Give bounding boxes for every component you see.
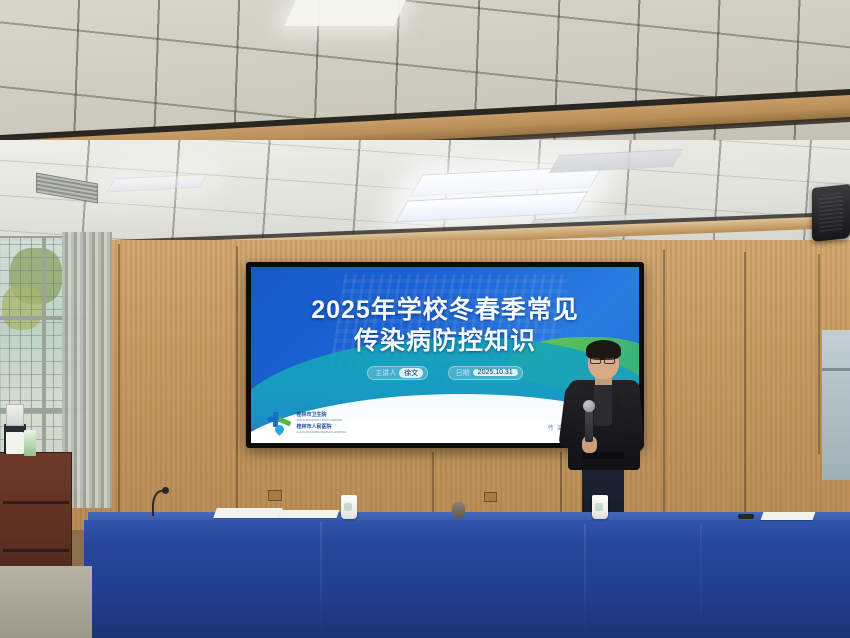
ceiling-light-far [284,0,406,26]
slide-logo-text: 桂林市卫生院 GUILIN MUNICIPAL HEALTH CENTER 桂林… [297,411,347,434]
presenter-shirt [594,382,612,426]
wall-outlet [268,490,282,501]
side-white-box [6,404,24,426]
documents [213,508,283,518]
slide-meta-presenter: 主讲人 徐文 [367,366,428,380]
slide-title-line1: 2025年学校冬春季常见 [251,295,639,326]
slide-meta-date-key: 日期 [453,368,473,378]
cabinet-shelf [3,501,69,504]
presenter-belt [582,452,624,459]
wall-seam [118,244,120,524]
cabinet-shelf [3,549,69,552]
medical-cross-icon [267,410,293,436]
slide-logo: 桂林市卫生院 GUILIN MUNICIPAL HEALTH CENTER 桂林… [267,410,347,436]
documents [761,512,816,520]
cabinet-item-paper [6,432,24,454]
cloth-fold [320,522,322,638]
wall-outlet [484,492,497,502]
wall-seam [818,254,820,454]
documents [279,510,340,518]
cabinet-item-box [24,430,36,456]
wall-speaker [812,184,850,242]
cloth-fold [700,524,702,638]
logo-line-en-2: GUILIN MUNICIPAL PEOPLE'S HOSPITAL [297,431,347,434]
right-window-slot [822,330,850,480]
right-window-bar [822,368,850,371]
slide-meta-presenter-key: 主讲人 [372,368,399,378]
paper-cup-right [592,495,608,519]
slide-meta-presenter-value: 徐文 [399,368,423,378]
presenter-glasses-right [604,357,615,364]
wall-seam [663,250,665,524]
handheld-microphone [585,408,593,442]
microphone-head [583,400,595,412]
logo-line-cn-1: 桂林市卫生院 [297,411,347,418]
logo-line-cn-2: 桂林市人民医院 [297,423,347,430]
floor [0,566,92,638]
paper-cup-left [341,495,357,519]
room-photo-scene: 2025年学校冬春季常见 传染病防控知识 主讲人 徐文 日期 2025.10.3… [0,0,850,638]
pen [738,514,754,519]
presenter-glasses-left [590,357,601,364]
cloth-fold [584,524,586,638]
logo-line-en-1: GUILIN MUNICIPAL HEALTH CENTER [297,419,347,422]
slide-meta-date-value: 2025.10.31 [473,369,518,376]
table-small-object [452,502,465,518]
wall-seam [236,246,238,524]
gooseneck-microphone-head [162,487,169,494]
slide-meta-date: 日期 2025.10.31 [448,366,523,380]
presenter [560,336,652,516]
wall-seam [744,252,746,524]
tablecloth [84,520,850,638]
